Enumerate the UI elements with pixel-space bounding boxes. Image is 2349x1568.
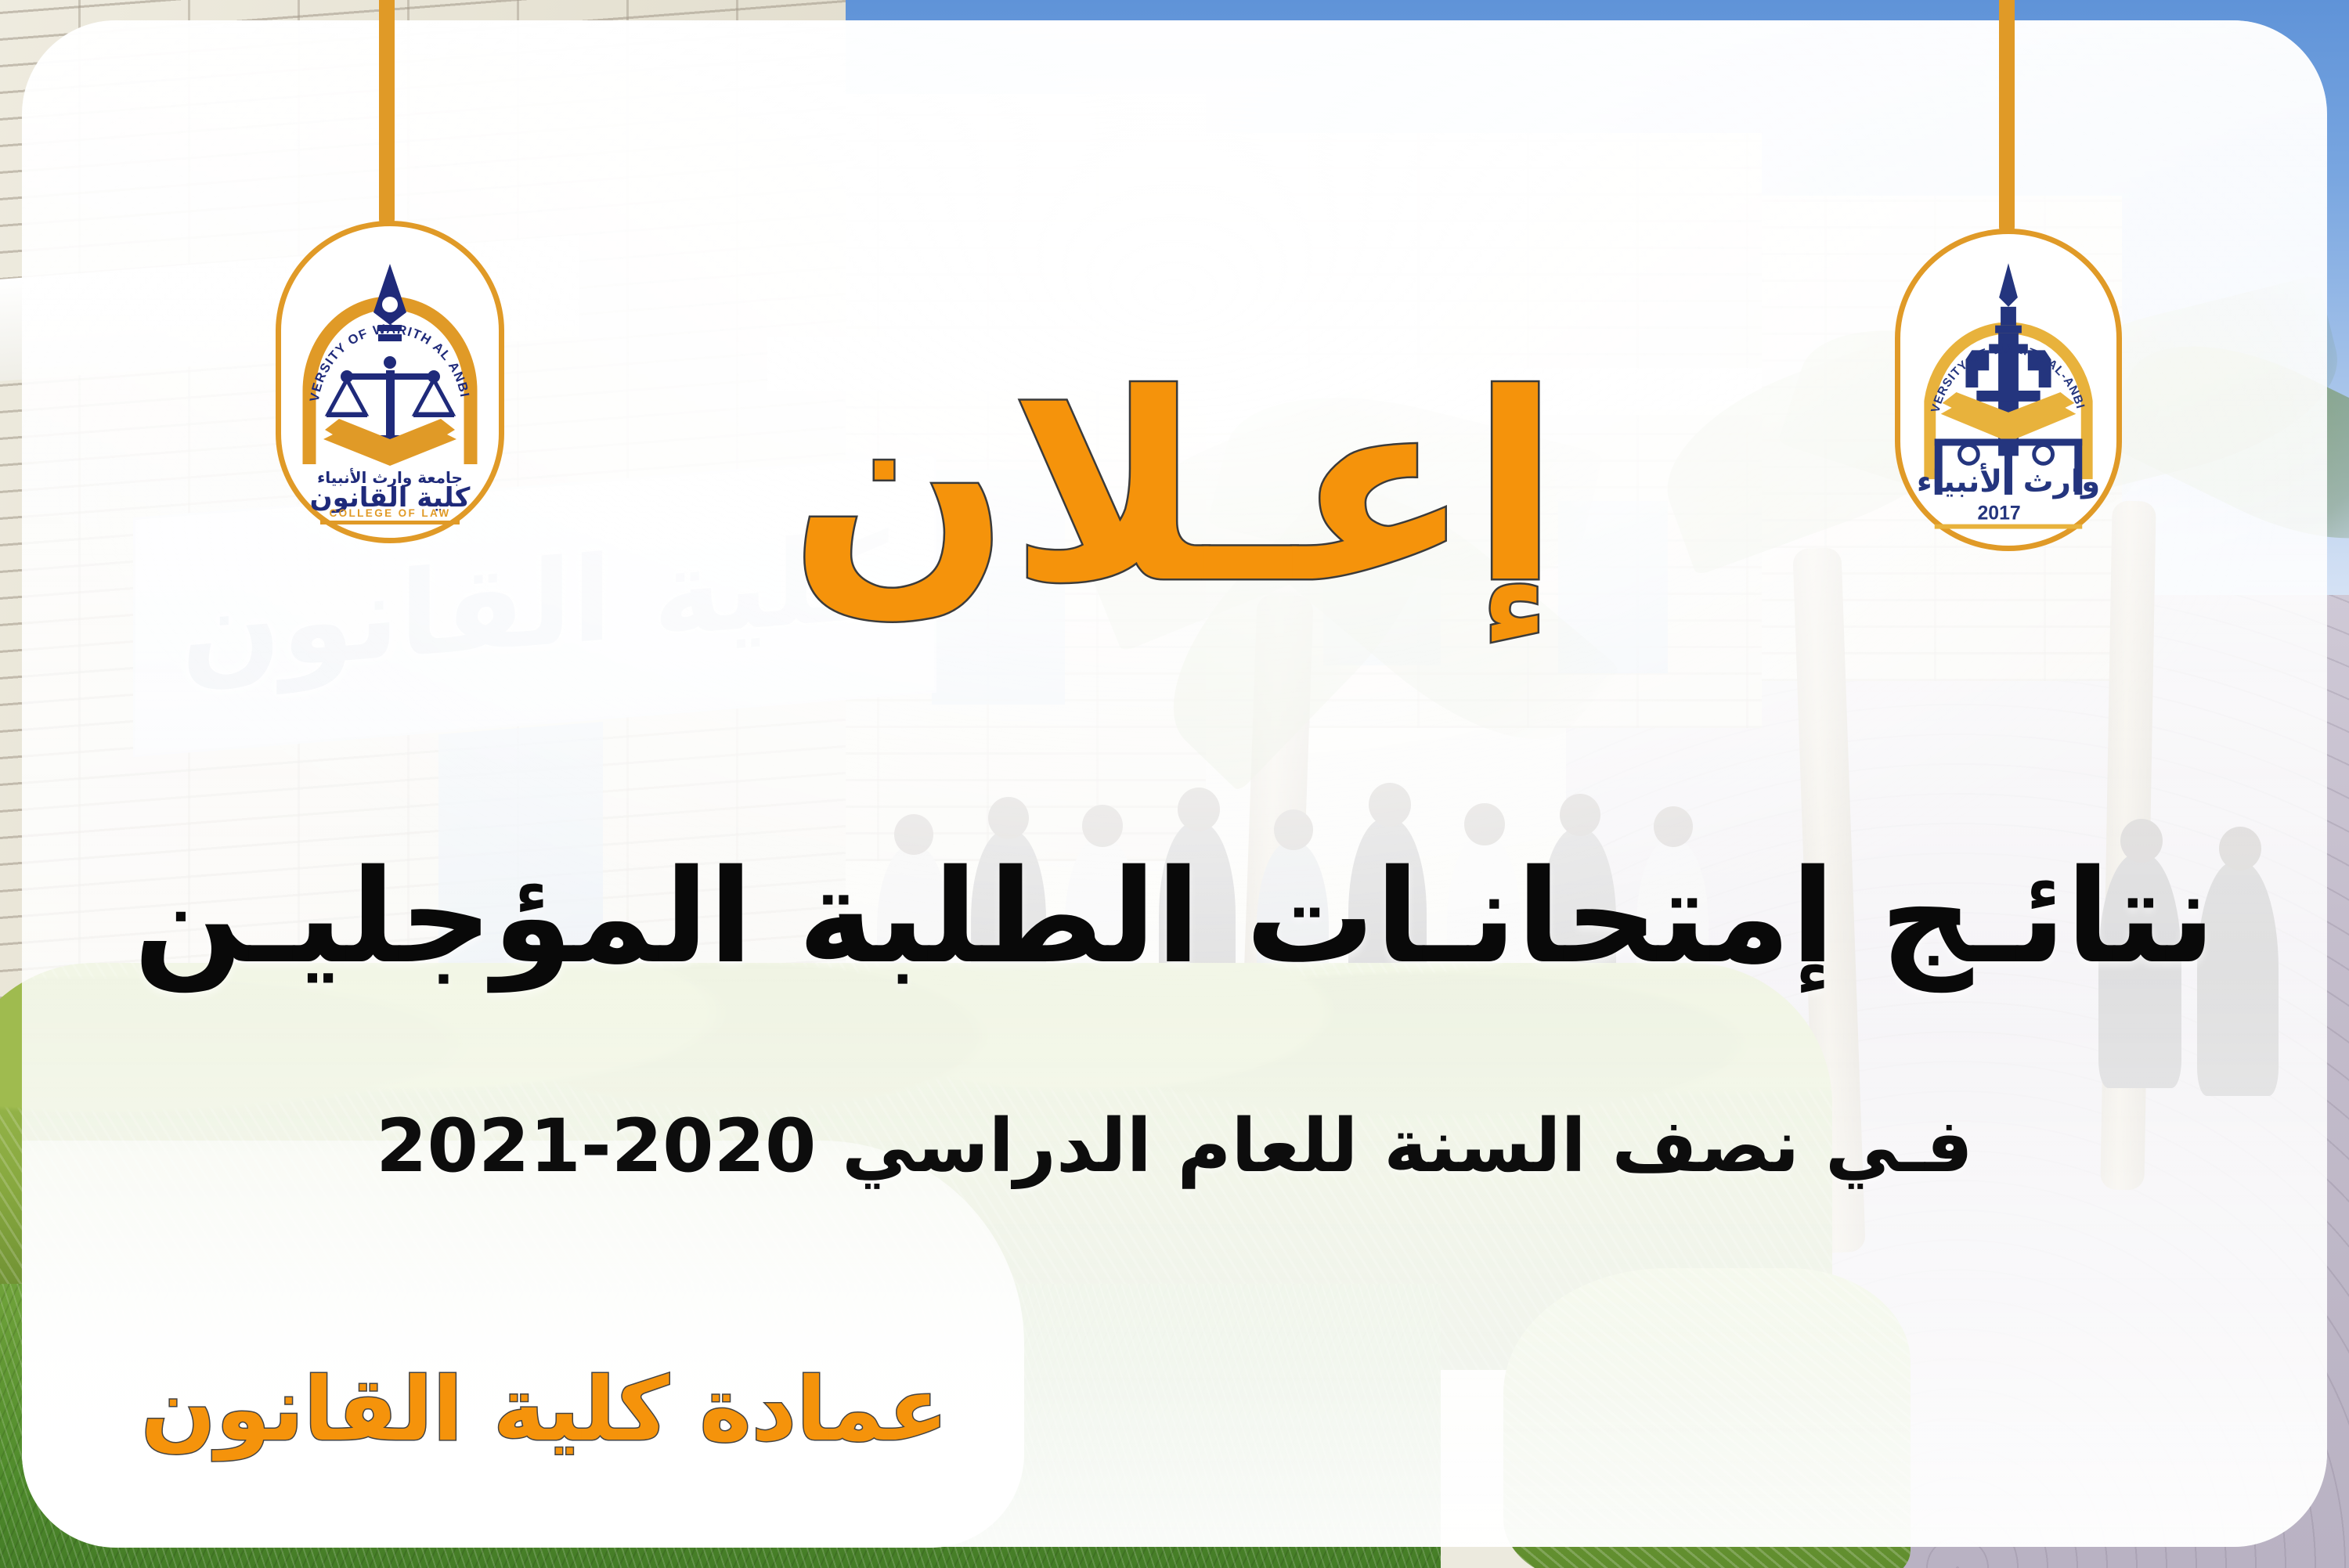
- page-title: إعـلان: [0, 360, 2349, 618]
- poster-content: UNIVERSITY OF WARITH AL ANBIYAA: [0, 0, 2349, 1568]
- issuing-authority: عمادة كلية القانون: [141, 1362, 948, 1458]
- announcement-subject: نتائـج إمتحانـات الطلبة المؤجليـن: [0, 849, 2349, 985]
- announcement-period: فـي نصف السنة للعام الدراسي 2020-2021: [0, 1106, 2349, 1187]
- logo-hanger-right-icon: [1999, 0, 2015, 235]
- logo-hanger-left-icon: [379, 0, 395, 227]
- announcement-poster: كلية القانون: [0, 0, 2349, 1568]
